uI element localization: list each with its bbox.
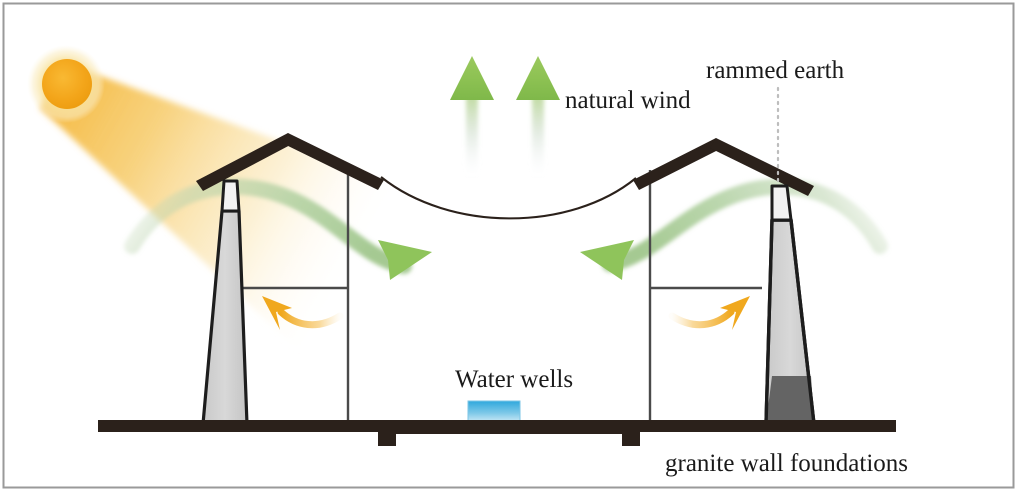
left-chimney-cap bbox=[222, 181, 239, 211]
passive-cooling-section-diagram: natural wind rammed earth Water wells gr… bbox=[0, 0, 1017, 491]
sun bbox=[27, 45, 105, 123]
sun-core-icon bbox=[42, 59, 92, 109]
label-granite-wall-foundations: granite wall foundations bbox=[665, 450, 908, 477]
diagram-frame: natural wind rammed earth Water wells gr… bbox=[0, 0, 1017, 491]
label-natural-wind: natural wind bbox=[565, 87, 691, 114]
label-rammed-earth: rammed earth bbox=[706, 57, 845, 84]
right-chimney-granite-base bbox=[766, 376, 814, 424]
label-water-wells: Water wells bbox=[455, 366, 573, 393]
right-chimney-cap bbox=[772, 186, 791, 220]
